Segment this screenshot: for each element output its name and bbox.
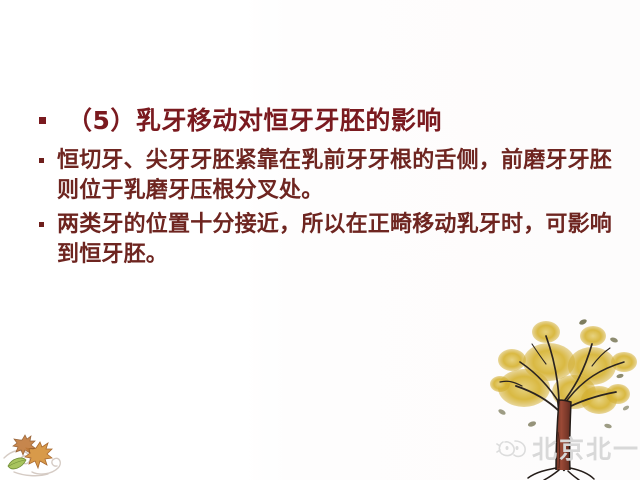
square-bullet-icon bbox=[39, 222, 44, 227]
tree-trunk bbox=[556, 400, 571, 470]
watermark-text: 北京北一 bbox=[532, 434, 640, 466]
bullet-item-2: 两类牙的位置十分接近，所以在正畸移动乳牙时，可影响到恒牙胚。 bbox=[30, 210, 620, 270]
square-bullet-icon bbox=[39, 158, 44, 163]
green-leaf-icon bbox=[8, 458, 26, 469]
bullet-item-title: （5）乳牙移动对恒牙牙胚的影响 bbox=[30, 104, 620, 138]
tree-foliage-group bbox=[490, 321, 637, 414]
falling-leaves-group bbox=[497, 318, 629, 429]
maple-leaf-icon bbox=[25, 442, 52, 468]
autumn-leaves-corner-ornament bbox=[2, 428, 74, 480]
autumn-tree-illustration bbox=[486, 300, 640, 480]
slide-title-text: （5）乳牙移动对恒牙牙胚的影响 bbox=[67, 104, 620, 138]
bullet-1-text: 恒切牙、尖牙牙胚紧靠在乳前牙牙根的舌侧，前磨牙牙胚则位于乳磨牙压根分叉处。 bbox=[57, 146, 620, 206]
swirl-ornament bbox=[4, 451, 60, 476]
square-bullet-icon bbox=[39, 117, 46, 124]
slide-canvas: （5）乳牙移动对恒牙牙胚的影响 恒切牙、尖牙牙胚紧靠在乳前牙牙根的舌侧，前磨牙牙… bbox=[0, 0, 640, 480]
watermark: 北京北一 bbox=[496, 432, 636, 468]
smiley-face-logo-icon bbox=[496, 436, 528, 466]
slide-content-body: （5）乳牙移动对恒牙牙胚的影响 恒切牙、尖牙牙胚紧靠在乳前牙牙根的舌侧，前磨牙牙… bbox=[30, 104, 620, 274]
tree-roots bbox=[528, 468, 594, 480]
tree-branch-group bbox=[500, 336, 624, 470]
maple-leaf-icon bbox=[13, 435, 35, 455]
bullet-item-1: 恒切牙、尖牙牙胚紧靠在乳前牙牙根的舌侧，前磨牙牙胚则位于乳磨牙压根分叉处。 bbox=[30, 146, 620, 206]
bullet-2-text: 两类牙的位置十分接近，所以在正畸移动乳牙时，可影响到恒牙胚。 bbox=[57, 210, 620, 270]
